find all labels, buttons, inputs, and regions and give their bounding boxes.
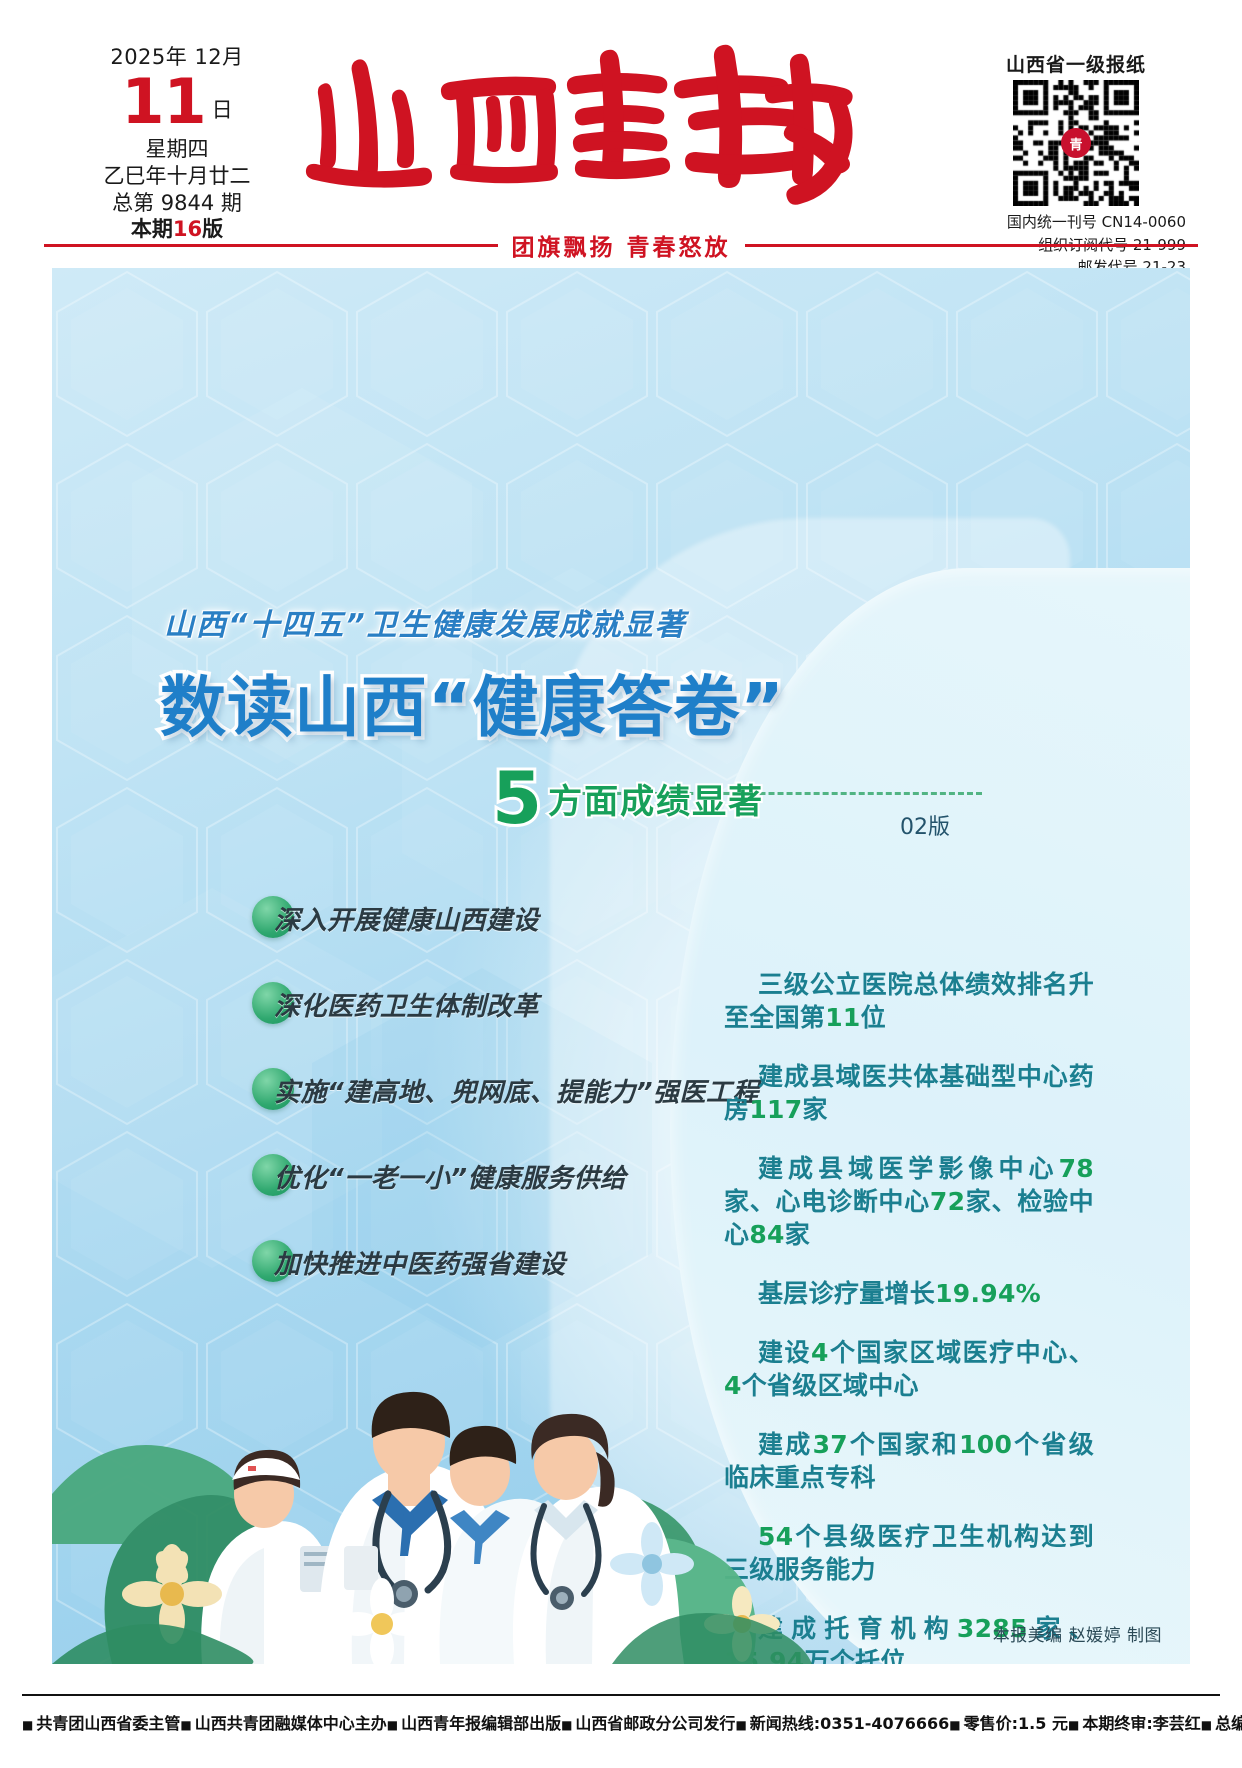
footer-item-6: 零售价:1.5 元 [949, 1710, 1068, 1734]
design-credit: 本报美编 赵媛婷 制图 [993, 1621, 1162, 1646]
poster-kicker: 山西“十四五”卫生健康发展成就显著 [164, 600, 687, 644]
medical-staff-illustration [52, 1194, 812, 1664]
masthead: 2025年 12月 11 日 星期四 乙巳年十月廿二 总第 9844 期 本期1… [0, 0, 1242, 228]
footer-item-1: 共青团山西省委主管 [22, 1710, 180, 1734]
slogan-bar: 团旗飘扬 青春怒放 [44, 228, 1198, 262]
footer-item-5: 新闻热线:0351-4076666 [735, 1710, 949, 1734]
date-weekday: 星期四 [62, 136, 292, 163]
footer-info: 共青团山西省委主管山西共青团融媒体中心主办山西青年报编辑部出版山西省邮政分公司发… [22, 1704, 1220, 1740]
stat-item-1: 三级公立医院总体绩效排名升至全国第11位 [724, 968, 1094, 1034]
page-reference: 02版 [900, 809, 950, 841]
slogan-text: 团旗飘扬 青春怒放 [512, 228, 731, 262]
newspaper-logo [300, 42, 860, 207]
qr-center-logo: 青 [1061, 128, 1091, 158]
footer-rule [22, 1694, 1220, 1696]
footer-item-4: 山西省邮政分公司发行 [561, 1710, 735, 1734]
footer-item-3: 山西青年报编辑部出版 [387, 1710, 561, 1734]
bullet-label: 优化“一老一小”健康服务供给 [274, 1158, 627, 1195]
date-day-unit: 日 [212, 97, 233, 132]
footer-item-8: 总编辑:徐俊斌 [1201, 1710, 1242, 1734]
slogan-rule-left [44, 244, 498, 247]
footer-item-2: 山西共青团融媒体中心主办 [180, 1710, 386, 1734]
stat-item-2: 建成县域医共体基础型中心药房117家 [724, 1060, 1094, 1126]
footer-item-7: 本期终审:李芸红 [1068, 1710, 1201, 1734]
issue-number: 总第 9844 期 [62, 190, 292, 217]
qr-code[interactable]: 青 [1013, 80, 1139, 206]
feature-poster: 山西“十四五”卫生健康发展成就显著 数读山西“健康答卷” 5 方面成绩显著 02… [52, 268, 1190, 1664]
date-day: 11 [121, 73, 205, 132]
bullet-item-1: 深入开展健康山西建设 [252, 888, 812, 974]
slogan-rule-right [745, 244, 1199, 247]
date-block: 2025年 12月 11 日 星期四 乙巳年十月廿二 总第 9844 期 本期1… [62, 44, 292, 243]
subtitle-number: 5 [492, 766, 540, 831]
subtitle-text: 方面成绩显著 [548, 774, 764, 831]
date-lunar: 乙巳年十月廿二 [62, 163, 292, 190]
bullet-label: 实施“建高地、兜网底、提能力”强医工程 [274, 1072, 759, 1109]
bullet-label: 深入开展健康山西建设 [274, 900, 539, 937]
poster-headline: 数读山西“健康答卷” [160, 654, 785, 750]
award-title: 山西省一级报纸 [962, 50, 1190, 77]
bullet-label: 深化医药卫生体制改革 [274, 986, 539, 1023]
